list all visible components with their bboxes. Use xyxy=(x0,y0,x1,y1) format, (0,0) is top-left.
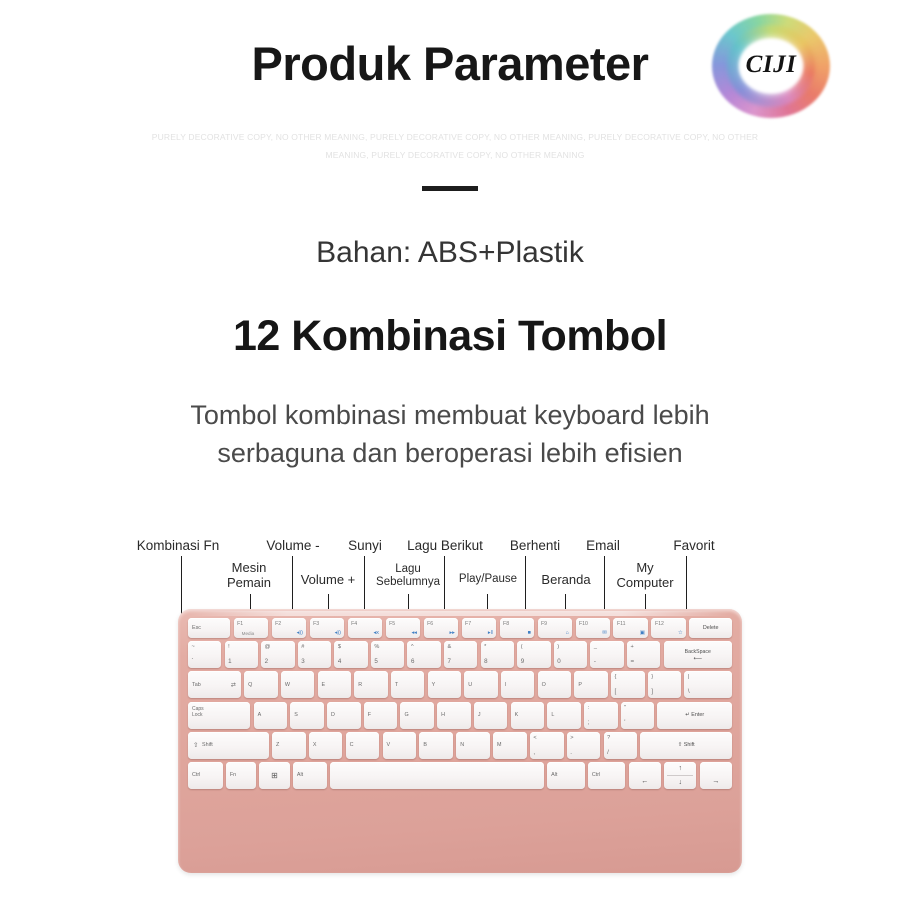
key-0[interactable]: ) 0 xyxy=(554,641,587,668)
key-9-top: ( xyxy=(521,644,523,650)
key-y[interactable]: Y xyxy=(428,671,462,698)
key-semicolon-bottom: ; xyxy=(588,719,590,726)
title-divider xyxy=(422,186,478,191)
key-f2[interactable]: F2 ◂)) xyxy=(272,618,307,638)
key-2-bottom: 2 xyxy=(265,658,268,665)
key-bracket-right[interactable]: } ] xyxy=(648,671,682,698)
key-ctrl-right-label: Ctrl xyxy=(592,772,600,778)
key-g[interactable]: G xyxy=(400,702,434,729)
key-7-bottom: 7 xyxy=(448,658,451,665)
my-computer-icon: ▣ xyxy=(640,630,645,636)
key-arrow-left[interactable]: ← xyxy=(629,762,661,789)
key-f1-label: F1 xyxy=(237,621,243,627)
callout-kombinasi-fn: Kombinasi Fn xyxy=(123,538,233,553)
page-title: Produk Parameter xyxy=(252,36,649,91)
key-x-label: X xyxy=(313,742,317,748)
key-j[interactable]: J xyxy=(474,702,508,729)
keyboard-function-row: Esc F1 Media F2 ◂)) F3 ◂)) F4 ◂x F5 ◂◂ xyxy=(186,618,734,638)
key-f12[interactable]: F12 ☆ xyxy=(651,618,686,638)
key-7-top: & xyxy=(448,644,452,650)
key-space[interactable] xyxy=(330,762,544,789)
keyboard-home-row: Caps Lock A S D F G H J K L : ; " ' ↵ En… xyxy=(186,702,734,729)
keyboard-bottom-row: Ctrl Fn ⊞ Alt Alt Ctrl ← ↑ xyxy=(186,762,734,789)
windows-icon: ⊞ xyxy=(259,762,289,789)
key-arrow-right[interactable]: → xyxy=(700,762,732,789)
key-tab[interactable]: Tab ⇄ xyxy=(188,671,241,698)
key-f6[interactable]: F6 ▸▸ xyxy=(424,618,459,638)
key-8-bottom: 8 xyxy=(484,658,487,665)
key-n-label: N xyxy=(460,742,464,748)
key-f11-label: F11 xyxy=(617,621,626,627)
play-pause-icon: ▸‖ xyxy=(488,630,493,636)
favorite-icon: ☆ xyxy=(678,630,683,636)
feature-subcopy: Tombol kombinasi membuat keyboard lebih … xyxy=(0,396,900,472)
key-u-label: U xyxy=(468,682,472,688)
feature-subcopy-line1: Tombol kombinasi membuat keyboard lebih xyxy=(0,396,900,434)
previous-track-icon: ◂◂ xyxy=(411,630,416,636)
key-v[interactable]: V xyxy=(383,732,417,759)
key-caps-lock[interactable]: Caps Lock xyxy=(188,702,250,729)
key-fn[interactable]: Fn xyxy=(226,762,256,789)
key-semicolon-top: : xyxy=(588,705,590,711)
keyboard-qwerty-row: Tab ⇄ Q W E R T Y U I O P { [ } ] | \ xyxy=(186,671,734,698)
key-f10[interactable]: F10 ✉ xyxy=(576,618,611,638)
key-3[interactable]: # 3 xyxy=(298,641,331,668)
key-shift-left-label: Shift xyxy=(202,742,213,748)
keyboard-number-row: ~ ` ! 1 @ 2 # 3 $ 4 % 5 xyxy=(186,641,734,668)
key-delete-label: Delete xyxy=(689,618,731,638)
key-equal[interactable]: + = xyxy=(627,641,660,668)
callout-beranda: Beranda xyxy=(533,573,599,588)
key-f9-label: F9 xyxy=(541,621,547,627)
key-alt-left[interactable]: Alt xyxy=(293,762,327,789)
key-b[interactable]: B xyxy=(419,732,453,759)
key-delete[interactable]: Delete xyxy=(689,618,731,638)
callout-volume-up: Volume + xyxy=(289,573,367,588)
key-bracket-left-top: { xyxy=(615,674,617,680)
key-f8-label: F8 xyxy=(503,621,509,627)
key-f4[interactable]: F4 ◂x xyxy=(348,618,383,638)
key-9-bottom: 9 xyxy=(521,658,524,665)
key-minus-top: _ xyxy=(594,644,597,650)
key-i-label: I xyxy=(505,682,507,688)
key-6-bottom: 6 xyxy=(411,658,414,665)
key-t-label: T xyxy=(395,682,398,688)
key-n[interactable]: N xyxy=(456,732,490,759)
arrow-down-icon[interactable]: ↓ xyxy=(664,775,696,789)
key-equal-bottom: = xyxy=(630,658,634,665)
key-5[interactable]: % 5 xyxy=(371,641,404,668)
key-l-label: L xyxy=(551,712,554,718)
key-a[interactable]: A xyxy=(254,702,288,729)
key-2-top: @ xyxy=(265,644,271,650)
key-slash-top: ? xyxy=(607,735,610,741)
key-f7-label: F7 xyxy=(465,621,471,627)
key-h-label: H xyxy=(441,712,445,718)
feature-headline: 12 Kombinasi Tombol xyxy=(0,312,900,361)
key-enter[interactable]: ↵ Enter xyxy=(657,702,731,729)
key-8-top: * xyxy=(484,644,486,650)
key-k-label: K xyxy=(515,712,519,718)
key-w-label: W xyxy=(285,682,290,688)
key-f9[interactable]: F9 ⌂ xyxy=(538,618,573,638)
key-backslash-bottom: \ xyxy=(688,688,690,695)
key-minus-bottom: - xyxy=(594,658,596,665)
key-f8[interactable]: F8 ■ xyxy=(500,618,535,638)
key-slash-bottom: / xyxy=(607,749,609,756)
key-e[interactable]: E xyxy=(318,671,352,698)
key-v-label: V xyxy=(387,742,391,748)
key-e-label: E xyxy=(322,682,326,688)
key-f3[interactable]: F3 ◂)) xyxy=(310,618,345,638)
key-period-bottom: . xyxy=(570,749,572,756)
key-5-top: % xyxy=(374,644,379,650)
key-i[interactable]: I xyxy=(501,671,535,698)
key-7[interactable]: & 7 xyxy=(444,641,477,668)
product-parameter-infographic: Produk Parameter CIJI PURELY DECORATIVE … xyxy=(0,0,900,900)
callout-lagu-sebelumnya: Lagu Sebelumnya xyxy=(368,563,448,589)
key-w[interactable]: W xyxy=(281,671,315,698)
keyboard-shift-row: Shift ⇧ Z X C V B N M < , > . ? / xyxy=(186,732,734,759)
key-shift-right[interactable]: ⇧ Shift xyxy=(640,732,732,759)
keyboard-product-image: Esc F1 Media F2 ◂)) F3 ◂)) F4 ◂x F5 ◂◂ xyxy=(178,609,742,873)
key-minus[interactable]: _ - xyxy=(590,641,623,668)
callout-mesin-pemain: Mesin Pemain xyxy=(216,561,282,590)
key-a-label: A xyxy=(258,712,262,718)
tab-arrows-icon: ⇄ xyxy=(231,681,236,688)
arrow-right-icon: → xyxy=(700,762,732,789)
key-comma-bottom: , xyxy=(533,749,535,756)
key-p-label: P xyxy=(578,682,582,688)
key-bracket-left-bottom: [ xyxy=(615,688,617,695)
key-period[interactable]: > . xyxy=(567,732,601,759)
key-3-top: # xyxy=(301,644,304,650)
key-slash[interactable]: ? / xyxy=(604,732,638,759)
key-f1-sublabel: Media xyxy=(242,631,255,636)
key-bracket-right-bottom: ] xyxy=(651,688,653,695)
key-y-label: Y xyxy=(432,682,436,688)
key-g-label: G xyxy=(404,712,408,718)
key-c[interactable]: C xyxy=(346,732,380,759)
key-semicolon[interactable]: : ; xyxy=(584,702,618,729)
key-l[interactable]: L xyxy=(547,702,581,729)
key-f-label: F xyxy=(368,712,371,718)
key-period-top: > xyxy=(570,735,573,741)
key-backspace[interactable]: BackSpace ⟵ xyxy=(664,641,732,668)
callout-sunyi: Sunyi xyxy=(337,538,393,553)
key-1[interactable]: ! 1 xyxy=(225,641,258,668)
key-r[interactable]: R xyxy=(354,671,388,698)
key-z-label: Z xyxy=(276,742,279,748)
decorative-copy: PURELY DECORATIVE COPY, NO OTHER MEANING… xyxy=(150,128,760,164)
key-1-top: ! xyxy=(228,644,230,650)
key-windows[interactable]: ⊞ xyxy=(259,762,289,789)
key-shift-right-label: ⇧ Shift xyxy=(640,732,732,759)
key-f5[interactable]: F5 ◂◂ xyxy=(386,618,421,638)
key-f7[interactable]: F7 ▸‖ xyxy=(462,618,497,638)
key-equal-top: + xyxy=(630,644,633,650)
key-f[interactable]: F xyxy=(364,702,398,729)
callout-favorit: Favorit xyxy=(657,538,731,553)
key-ctrl-left[interactable]: Ctrl xyxy=(188,762,223,789)
key-m[interactable]: M xyxy=(493,732,527,759)
key-f2-label: F2 xyxy=(275,621,281,627)
key-alt-right-label: Alt xyxy=(551,772,557,778)
key-comma-top: < xyxy=(533,735,536,741)
callout-my-computer: My Computer xyxy=(610,561,680,590)
callout-play-pause: Play/Pause xyxy=(450,573,526,586)
feature-subcopy-line2: serbaguna dan beroperasi lebih efisien xyxy=(0,434,900,472)
key-h[interactable]: H xyxy=(437,702,471,729)
key-f11[interactable]: F11 ▣ xyxy=(613,618,648,638)
key-c-label: C xyxy=(350,742,354,748)
volume-up-icon: ◂)) xyxy=(335,630,341,636)
stop-icon: ■ xyxy=(528,630,531,636)
key-backtick-bottom: ` xyxy=(192,658,194,665)
key-m-label: M xyxy=(497,742,502,748)
key-bracket-left[interactable]: { [ xyxy=(611,671,645,698)
key-z[interactable]: Z xyxy=(272,732,306,759)
key-6[interactable]: ^ 6 xyxy=(407,641,440,668)
callout-volume-down: Volume - xyxy=(251,538,335,553)
key-fn-label: Fn xyxy=(230,772,236,778)
key-6-top: ^ xyxy=(411,644,414,650)
key-ctrl-right[interactable]: Ctrl xyxy=(588,762,626,789)
key-f5-label: F5 xyxy=(389,621,395,627)
key-s-label: S xyxy=(294,712,298,718)
key-backslash[interactable]: | \ xyxy=(684,671,732,698)
key-tab-label: Tab xyxy=(192,682,201,688)
email-icon: ✉ xyxy=(602,630,607,636)
key-ctrl-left-label: Ctrl xyxy=(192,772,200,778)
key-backslash-top: | xyxy=(688,674,689,680)
key-quote-top: " xyxy=(624,705,626,711)
key-o[interactable]: O xyxy=(538,671,572,698)
key-shift-left[interactable]: Shift ⇧ xyxy=(188,732,269,759)
key-f1[interactable]: F1 Media xyxy=(234,618,269,638)
key-2[interactable]: @ 2 xyxy=(261,641,294,668)
key-0-bottom: 0 xyxy=(557,658,560,665)
logo-wordmark: CIJI xyxy=(712,14,830,118)
key-9[interactable]: ( 9 xyxy=(517,641,550,668)
key-enter-label: ↵ Enter xyxy=(657,702,731,729)
key-x[interactable]: X xyxy=(309,732,343,759)
key-0-top: ) xyxy=(557,644,559,650)
keyboard-top-bezel xyxy=(190,611,730,616)
backspace-arrow-icon: ⟵ xyxy=(664,648,732,668)
key-f6-label: F6 xyxy=(427,621,433,627)
key-r-label: R xyxy=(358,682,362,688)
key-d[interactable]: D xyxy=(327,702,361,729)
key-f4-label: F4 xyxy=(351,621,357,627)
key-f12-label: F12 xyxy=(655,621,664,627)
key-8[interactable]: * 8 xyxy=(481,641,514,668)
mute-icon: ◂x xyxy=(373,630,378,636)
key-o-label: O xyxy=(542,682,546,688)
key-s[interactable]: S xyxy=(290,702,324,729)
callout-email: Email xyxy=(572,538,634,553)
arrow-up-icon[interactable]: ↑ xyxy=(664,762,696,776)
key-b-label: B xyxy=(423,742,427,748)
key-caps-lock-label: Caps Lock xyxy=(192,706,204,719)
key-esc-label: Esc xyxy=(192,625,201,631)
key-4-bottom: 4 xyxy=(338,658,341,665)
key-4[interactable]: $ 4 xyxy=(334,641,367,668)
key-alt-left-label: Alt xyxy=(297,772,303,778)
key-1-bottom: 1 xyxy=(228,658,231,665)
ciji-rainbow-logo: CIJI xyxy=(712,14,830,118)
key-f3-label: F3 xyxy=(313,621,319,627)
key-alt-right[interactable]: Alt xyxy=(547,762,585,789)
key-q[interactable]: Q xyxy=(244,671,278,698)
key-q-label: Q xyxy=(248,682,252,688)
key-5-bottom: 5 xyxy=(374,658,377,665)
material-spec: Bahan: ABS+Plastik xyxy=(0,236,900,270)
key-f10-label: F10 xyxy=(579,621,588,627)
key-quote[interactable]: " ' xyxy=(621,702,655,729)
key-backtick-top: ~ xyxy=(192,644,195,650)
key-bracket-right-top: } xyxy=(651,674,653,680)
callout-lagu-berikut: Lagu Berikut xyxy=(393,538,497,553)
key-u[interactable]: U xyxy=(464,671,498,698)
key-esc[interactable]: Esc xyxy=(188,618,230,638)
next-track-icon: ▸▸ xyxy=(449,630,454,636)
key-d-label: D xyxy=(331,712,335,718)
key-4-top: $ xyxy=(338,644,341,650)
callout-berhenti: Berhenti xyxy=(495,538,575,553)
key-k[interactable]: K xyxy=(511,702,545,729)
key-comma[interactable]: < , xyxy=(530,732,564,759)
key-p[interactable]: P xyxy=(574,671,608,698)
arrow-left-icon: ← xyxy=(629,762,661,789)
volume-down-icon: ◂)) xyxy=(297,630,303,636)
key-t[interactable]: T xyxy=(391,671,425,698)
key-3-bottom: 3 xyxy=(301,658,304,665)
key-arrow-up-down[interactable]: ↑ ↓ xyxy=(664,762,696,789)
key-j-label: J xyxy=(478,712,481,718)
key-quote-bottom: ' xyxy=(624,719,625,726)
key-backtick[interactable]: ~ ` xyxy=(188,641,221,668)
shift-arrow-icon: ⇧ xyxy=(193,741,198,749)
home-icon: ⌂ xyxy=(566,630,569,636)
